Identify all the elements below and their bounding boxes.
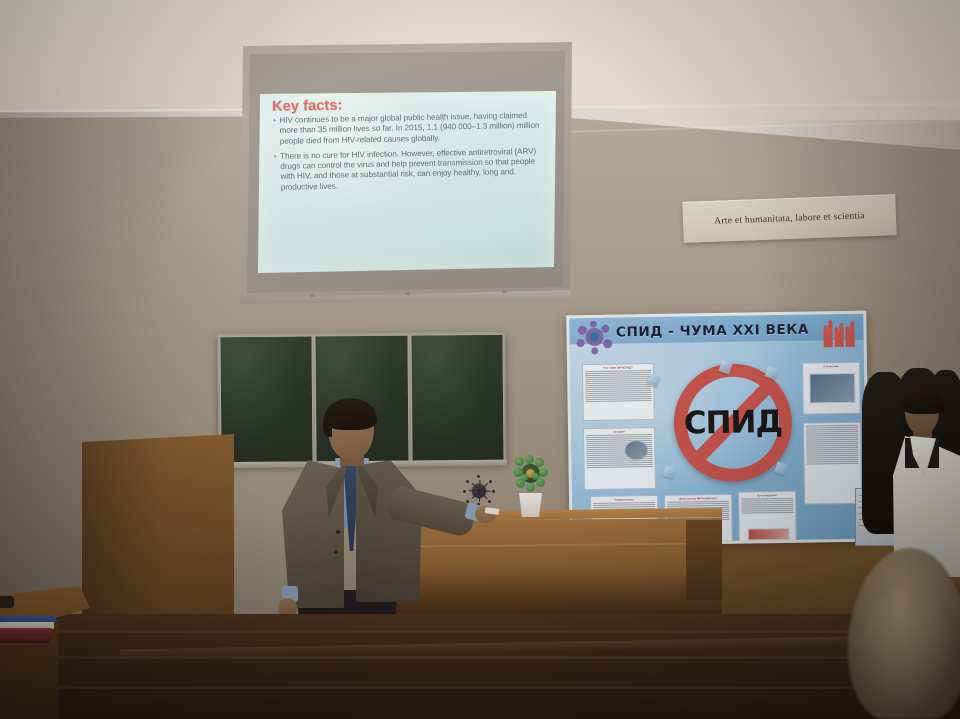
student-hair	[903, 388, 945, 414]
foreground-person-hair	[862, 584, 960, 719]
presentation-slide: Key facts: HIV continues to be a major g…	[258, 91, 556, 273]
screen-clip	[405, 292, 410, 295]
white-pot	[519, 493, 542, 517]
screen-clip	[310, 294, 315, 297]
book	[0, 636, 50, 643]
green-virus-model-in-pot	[512, 455, 548, 517]
poster-prohibition-word: СПИД	[684, 404, 783, 442]
poster-info-box: Пути передачи	[738, 491, 797, 544]
poster-title: СПИД - ЧУМА XXI ВЕКА	[617, 320, 807, 343]
jacket-button	[334, 550, 338, 554]
poster-thumbnail	[748, 528, 790, 541]
desk-side-panel	[686, 520, 722, 600]
projection-screen: Key facts: HIV continues to be a major g…	[240, 42, 572, 300]
poster-thumbnail	[809, 373, 855, 404]
wall-motto-sign: Arte et humanitata, labore et scientia	[682, 194, 896, 243]
stage-floor	[0, 614, 960, 719]
presenter-hair-side	[323, 412, 332, 437]
screen-clip	[502, 290, 507, 293]
poster-info-box	[803, 422, 862, 505]
poster-box-text	[806, 425, 859, 464]
poster-box-text	[585, 370, 651, 402]
jacket-button	[336, 530, 340, 534]
poster-box-text	[741, 498, 793, 514]
wall-motto-text: Arte et humanitata, labore et scientia	[714, 210, 865, 227]
slide-bullet-2: There is no cure for HIV infection. Howe…	[273, 146, 546, 193]
raised-hands-icon	[819, 317, 859, 348]
poster-info-box: Что такое ВИЧ/СПИД?	[582, 363, 655, 421]
poster-box-heading: Статистика	[805, 365, 857, 369]
poster-box-text	[586, 434, 653, 468]
dark-object	[0, 596, 14, 608]
slide-body: HIV continues to be a major global publi…	[272, 111, 545, 194]
slide-bullet-1: HIV continues to be a major global publi…	[272, 111, 545, 147]
poster-info-box: Статистика	[802, 362, 861, 415]
lecture-hall-scene: Key facts: HIV continues to be a major g…	[0, 0, 960, 719]
virus-icon	[574, 321, 615, 356]
poster-info-box: История	[583, 427, 656, 490]
podium-shadow	[82, 434, 234, 642]
